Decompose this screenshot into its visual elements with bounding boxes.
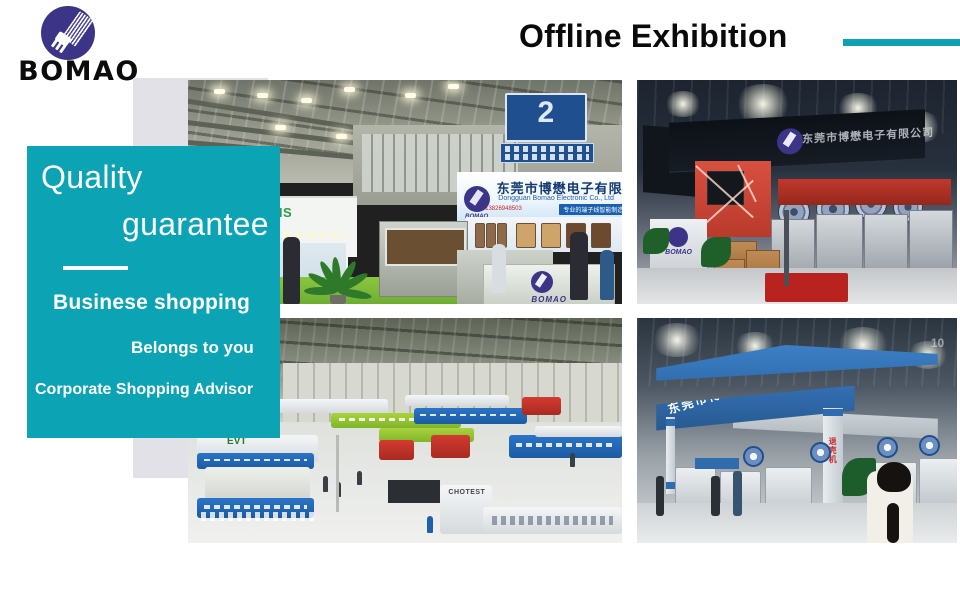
callout-line-1: Quality (41, 159, 143, 196)
hall-number-sign: 2 (505, 93, 587, 142)
banner-slogan-cn: 专业的端子线智能制造 (559, 204, 622, 215)
brand-logo: BOMAO (14, 6, 144, 82)
bomao-brush-plug-logo-icon (41, 6, 95, 60)
gallery-photo-bottom-right[interactable]: 10 东莞市博懋电子有限公司 退壳机 (637, 318, 957, 543)
potted-plant (305, 237, 370, 304)
callout-divider (63, 266, 128, 270)
hall-direction-sign (500, 143, 593, 163)
product-display-wall (466, 217, 622, 253)
banner-phone: 13826948503 (485, 206, 522, 212)
callout-line-4: Belongs to you (131, 338, 254, 358)
booth-header-company-cn: 东莞市博懋电子有限公司 (802, 123, 934, 146)
aisle-number-sign: 10 (931, 336, 944, 350)
slide-canvas: BOMAO Offline Exhibition 2 BOMAO 东莞市博懋电子… (0, 0, 960, 596)
gallery-photo-top-right[interactable]: 东莞市博懋电子有限公司 BOMAO (637, 80, 957, 304)
bomao-circle-logo-icon (777, 127, 803, 154)
title-rule-divider (843, 39, 960, 46)
banner-company-en: Dongguan Bomao Electronic Co., Ltd (498, 195, 614, 202)
brand-wordmark: BOMAO (14, 58, 144, 86)
callout-line-2: guarantee (122, 206, 269, 243)
bomao-booth-banner: BOMAO 东莞市博懋电子有限公司 Dongguan Bomao Electro… (457, 172, 622, 222)
hall-number-text: 2 (507, 98, 585, 128)
callout-line-3: Businese shopping (53, 291, 250, 315)
quality-guarantee-callout: Quality guarantee Businese shopping Belo… (27, 146, 280, 438)
callout-line-5: Corporate Shopping Advisor (35, 381, 253, 399)
booth-label-chotest: CHOTEST (448, 489, 485, 496)
page-title: Offline Exhibition (519, 18, 787, 55)
desk-wordmark: BOMAO (484, 295, 614, 304)
exhibit-machine (379, 221, 468, 297)
